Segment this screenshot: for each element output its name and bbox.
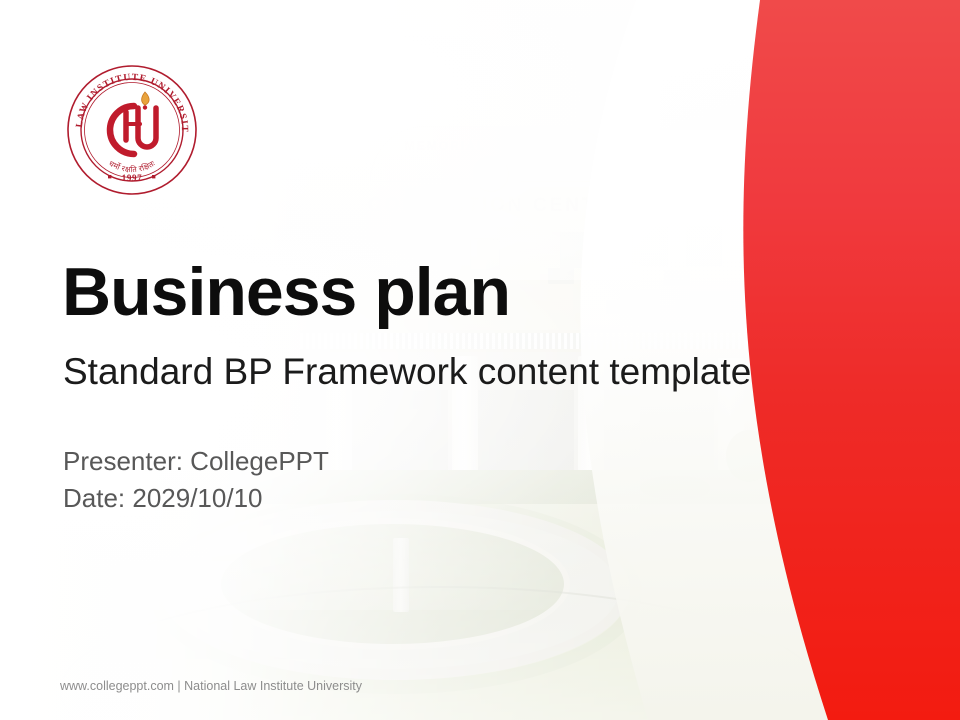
logo-left-star	[108, 175, 111, 178]
logo-year-text: 1997	[122, 173, 142, 183]
logo-motto-text: धर्मो रक्षति रक्षितः	[107, 159, 157, 174]
logo-monogram	[110, 92, 156, 154]
slide-title: Business plan	[62, 258, 510, 326]
slide-footer: www.collegeppt.com | National Law Instit…	[60, 679, 362, 693]
logo-right-star	[152, 175, 155, 178]
date-line: Date: 2029/10/10	[63, 483, 263, 514]
presenter-line: Presenter: CollegePPT	[63, 446, 329, 477]
presentation-slide: MEMORIAL CONVENTION CENTRE	[0, 0, 960, 720]
university-logo-icon: NATIONAL LAW INSTITUTE UNIVERSITY BHOPAL…	[64, 62, 200, 198]
slide-subtitle: Standard BP Framework content template	[63, 352, 751, 393]
